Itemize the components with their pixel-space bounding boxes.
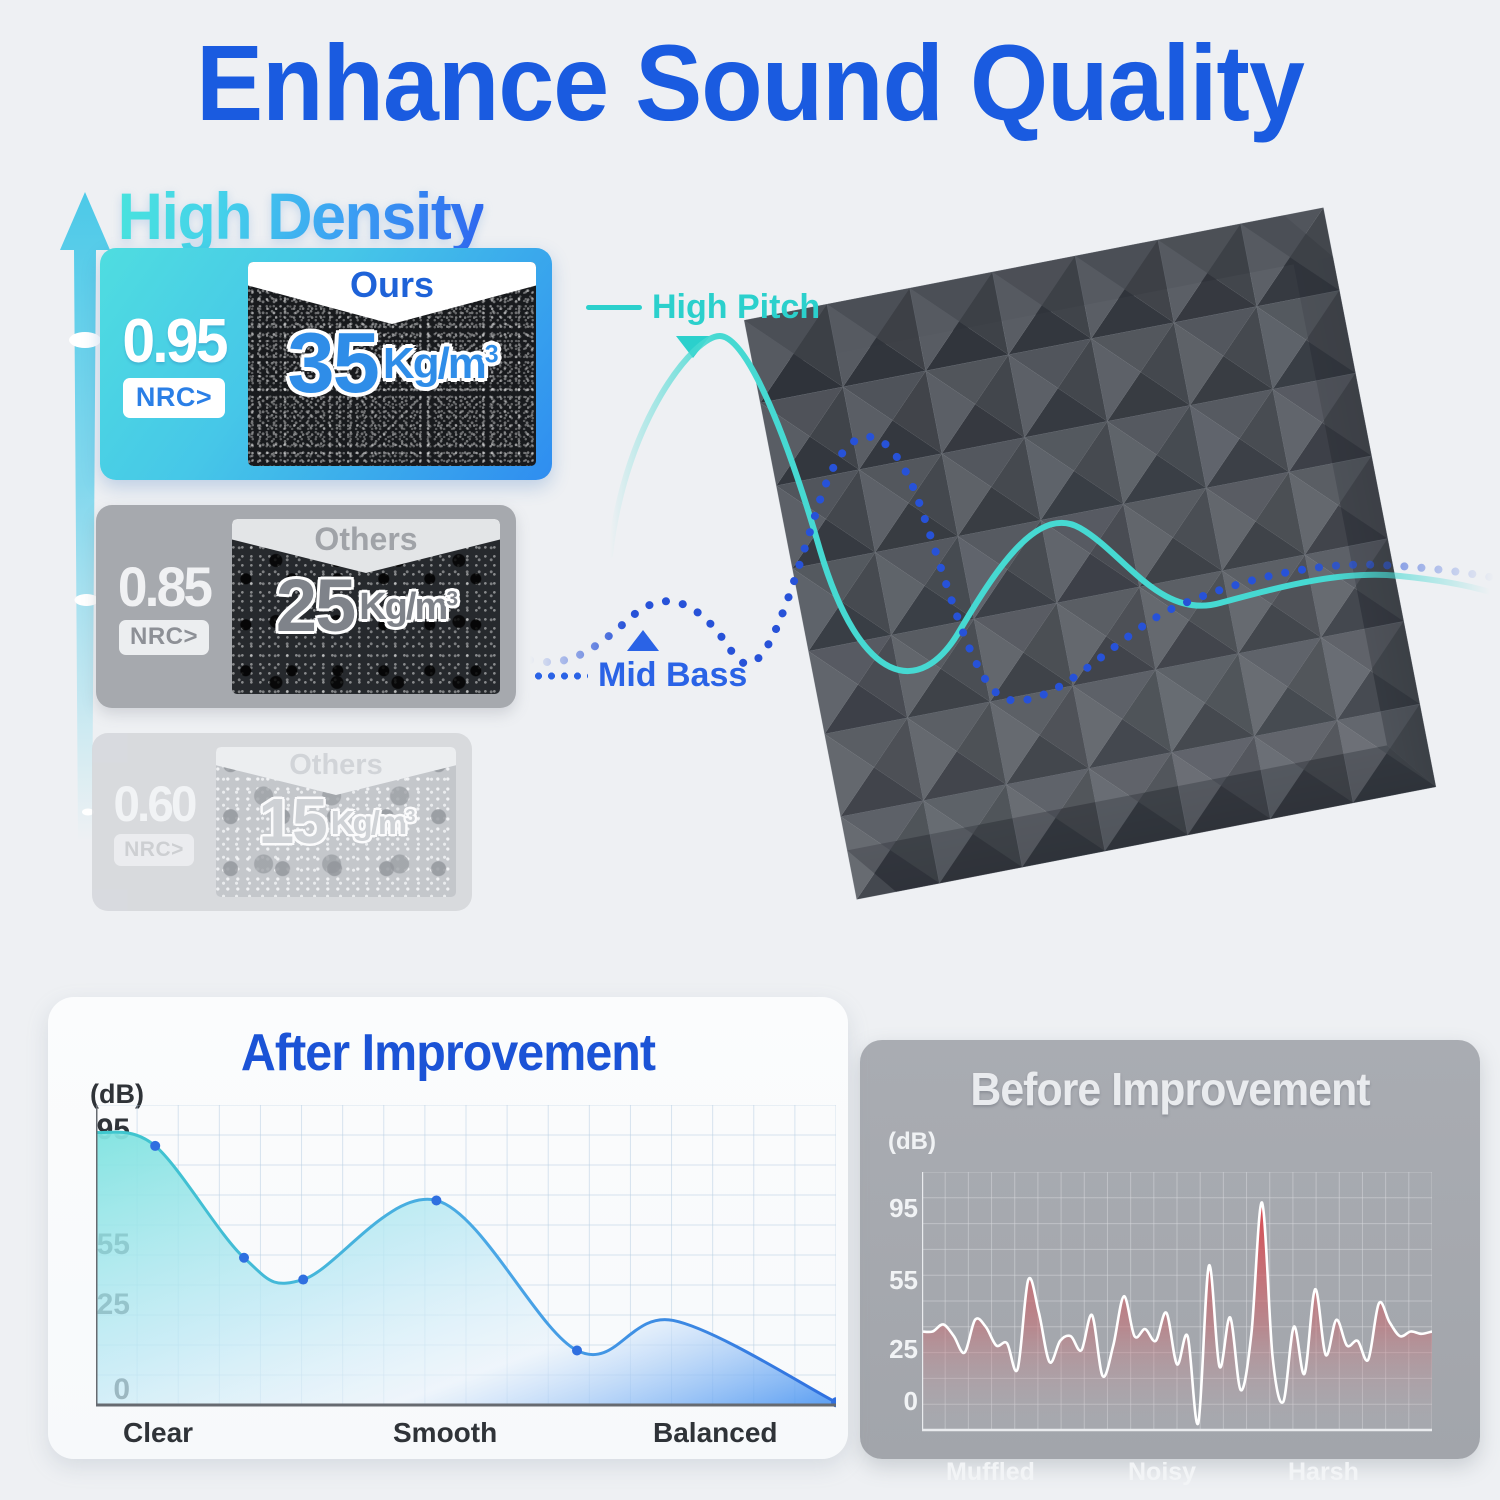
y-tick-before-2: 25 <box>874 1334 918 1365</box>
density-readout: 25 Kg/m3 <box>232 519 500 694</box>
nrc-block: 0.85 NRC> <box>96 559 232 655</box>
solid-line-icon <box>586 305 642 310</box>
nrc-value: 0.95 <box>104 311 245 373</box>
chart-plot-before <box>922 1172 1432 1457</box>
foam-swatch-ours: Ours 35 Kg/m3 <box>248 262 536 466</box>
density-readout: 35 Kg/m3 <box>248 262 536 466</box>
high-density-heading: High Density <box>118 178 484 254</box>
chart-card-after: After Improvement (dB) 95 55 25 0 <box>48 997 848 1459</box>
dotted-line-icon <box>532 672 588 680</box>
density-value: 25 <box>276 573 354 640</box>
chart-title-before: Before Improvement <box>882 1062 1459 1116</box>
page-title: Enhance Sound Quality <box>53 24 1448 143</box>
infographic-stage: Enhance Sound Quality High Density 0.95 … <box>0 0 1500 1500</box>
legend-mid-bass: Mid Bass <box>532 656 747 695</box>
x-tick-after-2: Balanced <box>653 1417 778 1449</box>
chart-card-before: Before Improvement (dB) 95 55 25 0 Muffl… <box>860 1040 1480 1459</box>
acoustic-foam-panel <box>690 160 1480 1000</box>
nrc-label: NRC> <box>114 834 194 866</box>
foam-swatch-others-15: Others 15 Kg/m3 <box>216 747 456 897</box>
density-value: 35 <box>287 326 378 403</box>
x-tick-before-0: Muffled <box>946 1458 1035 1487</box>
density-unit: Kg/m3 <box>359 588 456 626</box>
legend-label: Mid Bass <box>598 656 747 695</box>
legend-label: High Pitch <box>652 288 820 327</box>
density-card-others-15: 0.60 NRC> Others 15 Kg/m3 <box>92 733 472 911</box>
density-value: 15 <box>259 793 326 851</box>
density-card-others-25: 0.85 NRC> Others 25 Kg/m3 <box>96 505 516 708</box>
foam-swatch-others-25: Others 25 Kg/m3 <box>232 519 500 694</box>
density-readout: 15 Kg/m3 <box>216 747 456 897</box>
y-axis-unit-before: (dB) <box>888 1128 936 1156</box>
y-tick-before-1: 55 <box>874 1265 918 1296</box>
x-tick-after-1: Smooth <box>393 1417 497 1449</box>
x-tick-before-1: Noisy <box>1128 1458 1196 1487</box>
density-unit: Kg/m3 <box>383 342 497 386</box>
y-tick-before-3: 0 <box>874 1386 918 1417</box>
density-unit: Kg/m3 <box>331 806 414 839</box>
legend-high-pitch: High Pitch <box>586 288 820 327</box>
chart-title-after: After Improvement <box>76 1023 820 1083</box>
x-tick-before-2: Harsh <box>1288 1458 1359 1487</box>
nrc-block: 0.60 NRC> <box>92 779 216 866</box>
nrc-value: 0.85 <box>99 559 228 615</box>
nrc-block: 0.95 NRC> <box>100 311 248 418</box>
density-card-ours: 0.95 NRC> Ours 35 Kg/m3 <box>100 248 552 480</box>
y-tick-before-0: 95 <box>874 1193 918 1224</box>
triangle-up-icon <box>627 630 659 651</box>
nrc-value: 0.60 <box>95 779 213 829</box>
chart-plot-after <box>96 1105 836 1435</box>
nrc-label: NRC> <box>119 620 209 655</box>
triangle-down-icon <box>676 336 710 358</box>
nrc-label: NRC> <box>123 378 225 418</box>
x-tick-after-0: Clear <box>123 1417 193 1449</box>
